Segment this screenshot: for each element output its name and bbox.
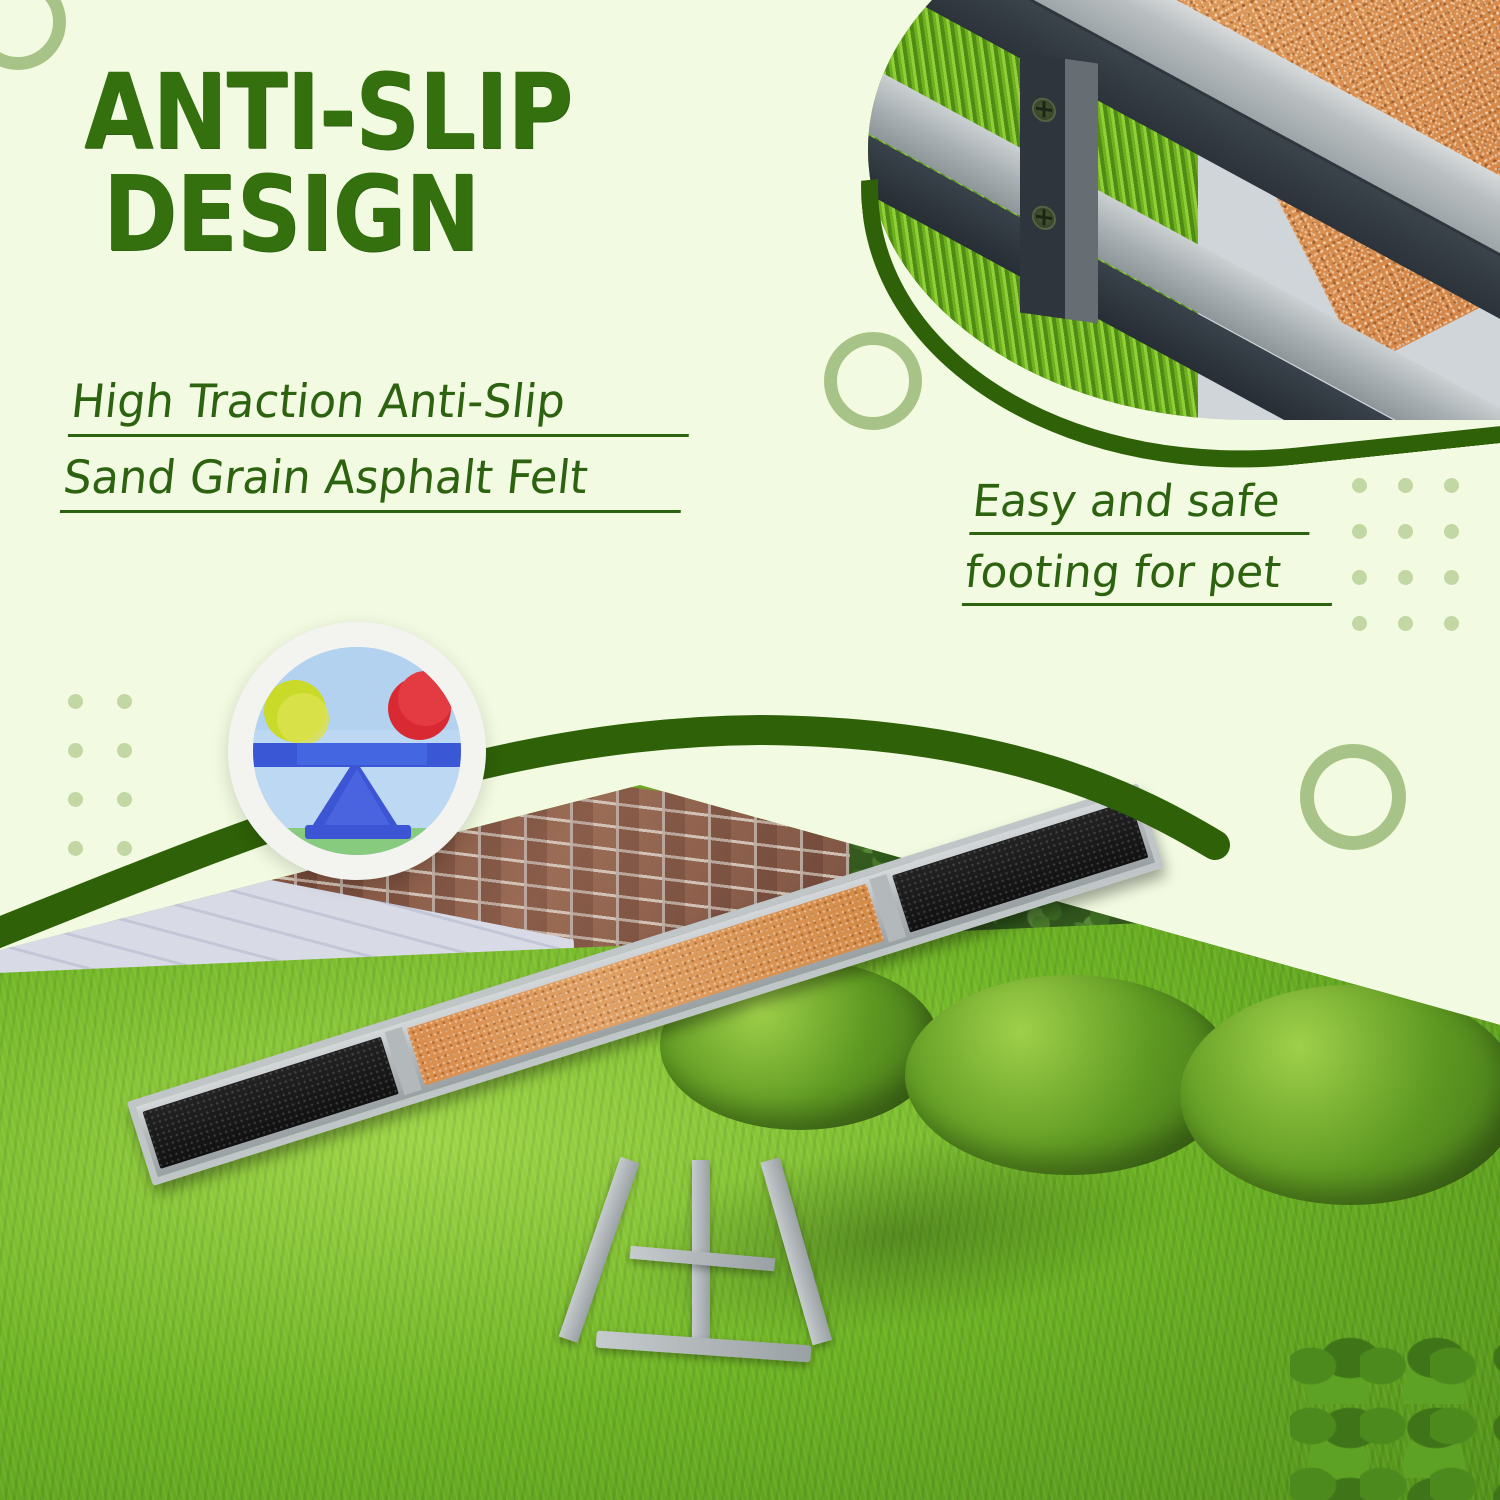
subtitle-right-line-1: Easy and safe: [969, 480, 1315, 535]
subtitle-left: High Traction Anti-Slip Sand Grain Aspha…: [58, 378, 714, 530]
screw-icon: [1032, 96, 1056, 123]
balance-badge: [228, 622, 486, 880]
inset-closeup-photo: [868, 0, 1500, 420]
base-leg-left: [559, 1157, 640, 1343]
screw-icon: [1032, 204, 1056, 231]
inset-photo-content: [868, 0, 1500, 420]
page-title: ANTI-SLIP DESIGN: [84, 62, 686, 266]
product-feature-banner: ANTI-SLIP DESIGN High Traction Anti-Slip…: [0, 0, 1500, 1500]
balance-seesaw-icon: [253, 647, 461, 855]
badge-fulcrum-highlight: [323, 769, 391, 827]
inset-support-post: [1020, 53, 1098, 324]
seesaw-base-frame: [610, 1160, 840, 1360]
foreground-weeds: [1290, 1330, 1500, 1500]
subtitle-right: Easy and safe footing for pet: [960, 480, 1345, 622]
dot-grid-right: [1352, 478, 1490, 662]
subtitle-right-line-2: footing for pet: [962, 551, 1338, 606]
badge-fulcrum-foot: [305, 825, 411, 839]
base-leg-right: [760, 1157, 832, 1345]
badge-ball-red-highlight: [398, 671, 453, 726]
headline-line-2: DESIGN: [84, 164, 686, 266]
subtitle-left-line-1: High Traction Anti-Slip: [68, 378, 695, 437]
ring-right-icon: [1300, 744, 1406, 850]
anti-slip-black-pad: [142, 1037, 398, 1169]
subtitle-left-line-2: Sand Grain Asphalt Felt: [60, 454, 687, 513]
product-pet-seesaw: [140, 950, 1250, 1390]
dot-grid-left: [68, 694, 166, 890]
ring-top-left-icon: [0, 0, 66, 70]
badge-beam-highlight: [297, 743, 427, 765]
badge-ball-yellow-highlight: [277, 693, 329, 745]
